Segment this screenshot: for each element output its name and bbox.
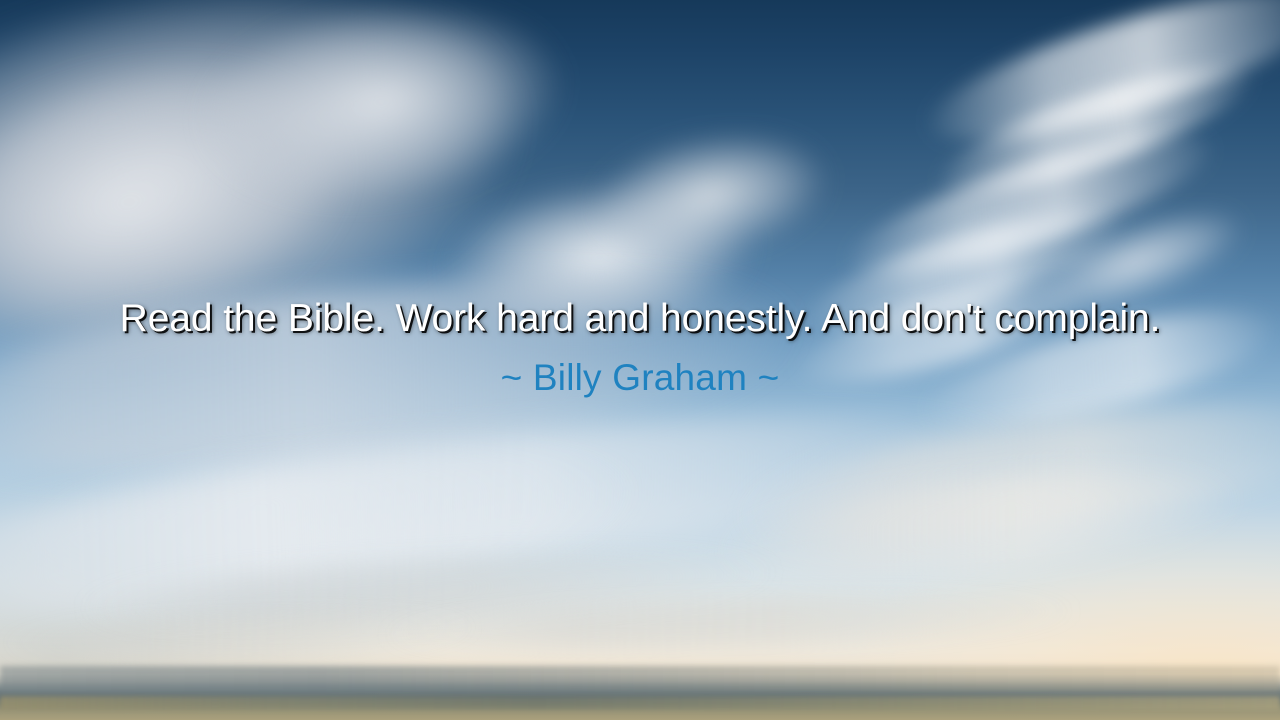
quote-author: ~ Billy Graham ~ <box>40 356 1240 400</box>
terrain-foreground-strip <box>0 696 1280 710</box>
terrain-distant-haze <box>0 666 1280 692</box>
cloud-shelf-lower-left <box>0 424 645 646</box>
cloud-bank-upper-left-top <box>136 0 625 241</box>
wallpaper-canvas: Read the Bible. Work hard and honestly. … <box>0 0 1280 720</box>
cloud-shelf-mid-center <box>37 388 1024 593</box>
cloud-shelf-lower-right <box>717 453 1244 597</box>
cloud-puff-center-bright <box>549 95 870 295</box>
quote-text: Read the Bible. Work hard and honestly. … <box>40 296 1240 342</box>
quote-block: Read the Bible. Work hard and honestly. … <box>0 296 1280 400</box>
cloud-shelf-mid-right <box>735 377 1280 572</box>
haze-streak-1 <box>79 542 781 639</box>
cirrus-streak-2 <box>928 43 1263 217</box>
haze-streak-2 <box>379 588 1080 657</box>
haze-streak-3 <box>0 607 481 664</box>
cirrus-streak-1 <box>916 0 1280 169</box>
cirrus-streak-3 <box>837 108 1223 302</box>
